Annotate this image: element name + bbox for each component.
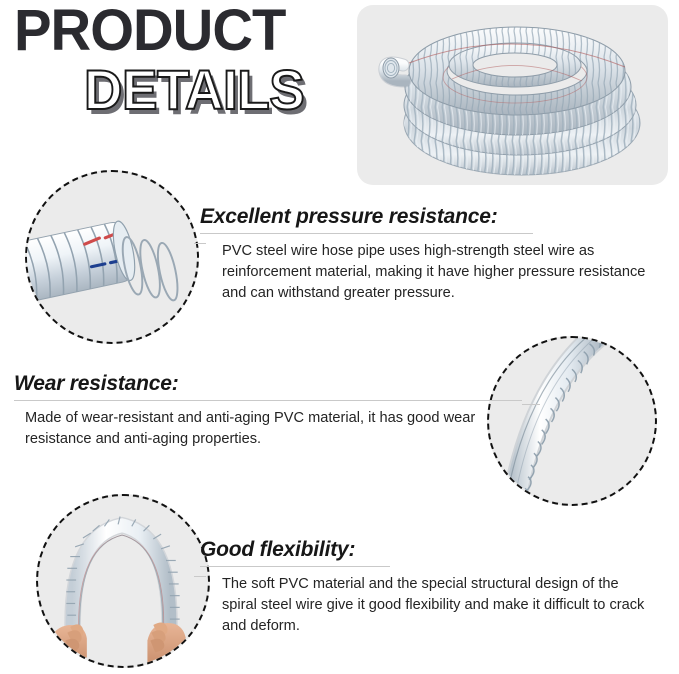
feature-body-wear-resistance: Made of wear-resistant and anti-aging PV…: [14, 408, 484, 450]
product-details-infographic: PRODUCT DETAILS: [0, 0, 679, 674]
feature-rule-good-flexibility: [200, 566, 390, 567]
feature-image-good-flexibility: [36, 494, 210, 668]
feature-block-wear-resistance: Wear resistance: Made of wear-resistant …: [14, 372, 534, 450]
feature-rule-wear-resistance: [14, 400, 522, 401]
feature-rule-pressure-resistance: [200, 233, 533, 234]
feature-heading-pressure-resistance: Excellent pressure resistance:: [200, 205, 670, 229]
hero-product-image: [357, 5, 668, 185]
hose-cut-end-with-spiral-steel-wire-icon: [27, 172, 197, 342]
coiled-hose-illustration: [357, 5, 668, 185]
feature-body-pressure-resistance: PVC steel wire hose pipe uses high-stren…: [200, 241, 660, 304]
feature-image-pressure-resistance: [25, 170, 199, 344]
left-hand: [48, 624, 87, 666]
feature-body-good-flexibility: The soft PVC material and the special st…: [200, 574, 655, 637]
hands-bending-hose-icon: [38, 496, 208, 666]
feature-heading-wear-resistance: Wear resistance:: [14, 372, 534, 396]
feature-block-good-flexibility: Good flexibility: The soft PVC material …: [200, 538, 670, 637]
page-title-details: DETAILS: [84, 62, 304, 118]
right-hand: [147, 622, 186, 666]
feature-block-pressure-resistance: Excellent pressure resistance: PVC steel…: [200, 205, 670, 304]
feature-heading-good-flexibility: Good flexibility:: [200, 538, 670, 562]
page-title-product: PRODUCT: [14, 2, 285, 60]
